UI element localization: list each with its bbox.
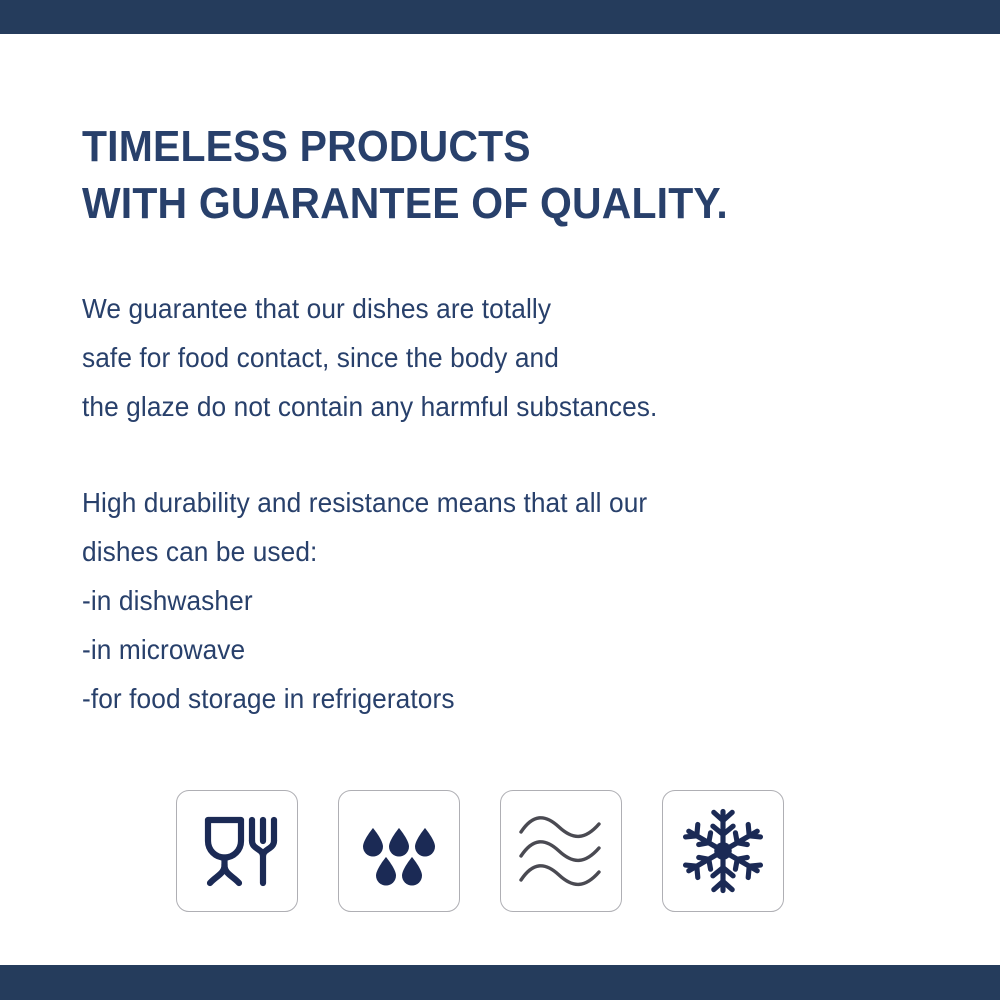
content-column: TIMELESS PRODUCTS WITH GUARANTEE OF QUAL…	[82, 118, 942, 723]
durability-item-microwave: -in microwave	[82, 625, 903, 674]
page-title-line-2: WITH GUARANTEE OF QUALITY.	[82, 175, 882, 232]
guarantee-line-1: We guarantee that our dishes are totally	[82, 284, 903, 333]
microwave-safe-icon	[515, 810, 607, 892]
durability-line-2: dishes can be used:	[82, 527, 903, 576]
guarantee-line-3: the glaze do not contain any harmful sub…	[82, 382, 903, 431]
food-safe-icon	[194, 808, 280, 894]
top-decorative-band	[0, 0, 1000, 34]
food-safe-icon-box	[176, 790, 298, 912]
dishwasher-safe-icon	[356, 808, 442, 894]
bottom-decorative-band	[0, 965, 1000, 1000]
product-guarantee-page: TIMELESS PRODUCTS WITH GUARANTEE OF QUAL…	[0, 0, 1000, 1000]
dishwasher-safe-icon-box	[338, 790, 460, 912]
certification-icon-row	[176, 790, 784, 912]
page-title: TIMELESS PRODUCTS WITH GUARANTEE OF QUAL…	[82, 118, 882, 232]
durability-item-dishwasher: -in dishwasher	[82, 576, 903, 625]
page-title-line-1: TIMELESS PRODUCTS	[82, 118, 882, 175]
guarantee-line-2: safe for food contact, since the body an…	[82, 333, 903, 382]
durability-item-refrigerator: -for food storage in refrigerators	[82, 674, 903, 723]
freezer-safe-icon	[677, 805, 769, 897]
durability-line-1: High durability and resistance means tha…	[82, 478, 903, 527]
durability-paragraph: High durability and resistance means tha…	[82, 478, 903, 723]
microwave-safe-icon-box	[500, 790, 622, 912]
freezer-safe-icon-box	[662, 790, 784, 912]
guarantee-paragraph: We guarantee that our dishes are totally…	[82, 284, 903, 431]
